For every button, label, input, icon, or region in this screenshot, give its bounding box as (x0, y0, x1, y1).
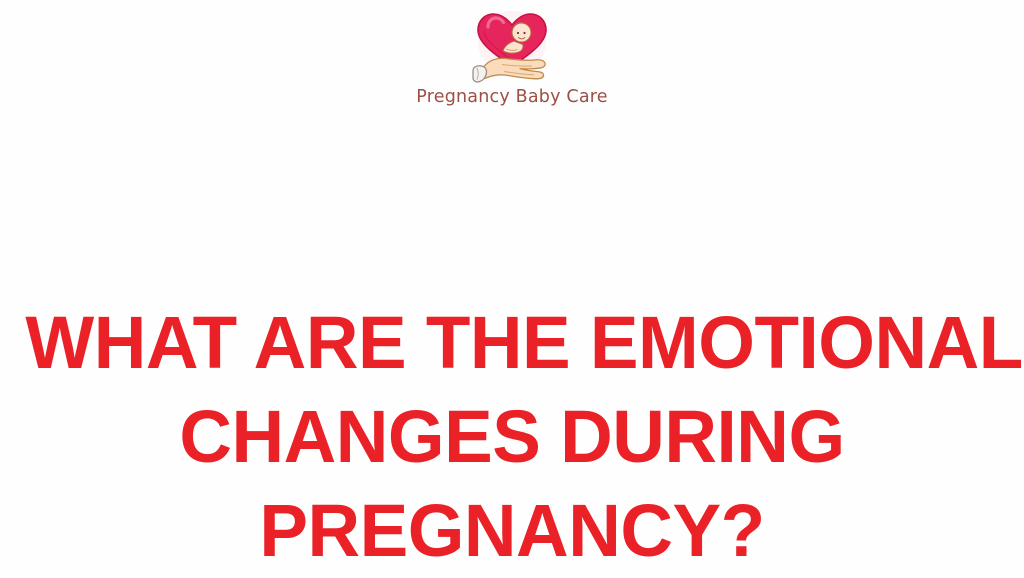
page-title-line-3: PREGNANCY? (25, 484, 998, 578)
brand-name: Pregnancy Baby Care (416, 89, 607, 107)
heart-baby-in-hand-icon (462, 8, 562, 90)
brand-block: Pregnancy Baby Care (0, 8, 1024, 107)
title-card: Pregnancy Baby Care WHAT ARE THE EMOTION… (0, 0, 1024, 576)
page-title: WHAT ARE THE EMOTIONAL CHANGES DURING PR… (0, 296, 1024, 578)
page-title-line-2: CHANGES DURING (25, 390, 998, 484)
page-title-line-1: WHAT ARE THE EMOTIONAL (25, 296, 998, 390)
